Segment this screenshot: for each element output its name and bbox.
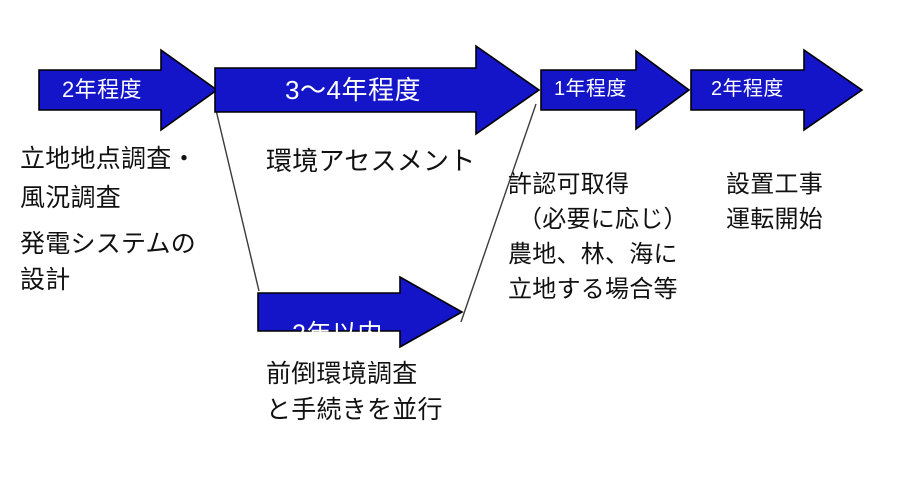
- caption-phase3-line2: （必要に応じ）: [518, 205, 688, 236]
- arrow-shape-1: [39, 50, 217, 130]
- connector-line-left: [216, 110, 259, 291]
- arrow-shape-3: [541, 51, 689, 129]
- timeline-arrow-1[interactable]: [38, 48, 218, 132]
- arrow-shape-branch: [258, 277, 462, 347]
- arrow-shape-4: [691, 50, 862, 130]
- caption-phase3-line1: 許認可取得: [508, 170, 629, 201]
- caption-phase1-line2: 風況調査: [20, 182, 121, 214]
- caption-phase2-line1: 環境アセスメント: [266, 145, 476, 178]
- caption-phase1-line3: 発電システムの: [20, 228, 196, 260]
- timeline-arrow-4[interactable]: [690, 48, 863, 132]
- caption-phase1-line1: 立地地点調査・: [20, 143, 197, 175]
- caption-phase3-line3: 農地、林、海に: [508, 240, 678, 271]
- caption-branch-line2: と手続きを並行: [266, 394, 443, 426]
- timeline-arrow-2[interactable]: [214, 44, 540, 136]
- branch-arrow[interactable]: [257, 276, 463, 348]
- caption-phase4-line1: 設置工事: [726, 170, 823, 201]
- caption-phase4-line2: 運転開始: [726, 205, 823, 236]
- timeline-arrow-3[interactable]: [540, 50, 690, 130]
- caption-branch-line1: 前倒環境調査: [266, 358, 418, 390]
- process-timeline-diagram: 2年程度 3〜4年程度 1年程度 2年程度 2年以内 立地地点調査・ 風況調査 …: [0, 0, 900, 483]
- caption-phase1-line4: 設計: [20, 264, 71, 296]
- caption-phase3-line4: 立地する場合等: [508, 275, 678, 306]
- arrow-shape-2: [215, 46, 539, 134]
